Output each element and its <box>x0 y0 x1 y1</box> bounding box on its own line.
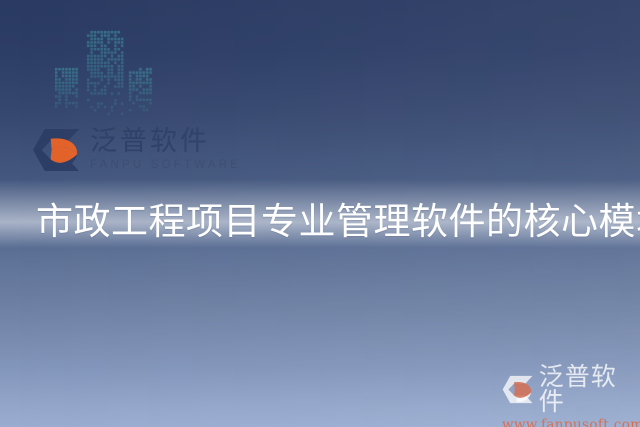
page-title: 市政工程项目专业管理软件的核心模块 <box>36 200 640 244</box>
watermark: 泛普软件 www.fanpusoft.com <box>502 364 636 427</box>
logo-name-cn: 泛普软件 <box>90 128 241 155</box>
logo-name-en: FANPU SOFTWARE <box>90 160 241 172</box>
watermark-url: www.fanpusoft.com <box>502 417 636 427</box>
watermark-logo-row: 泛普软件 <box>502 364 636 414</box>
pixel-city-skyline-icon <box>55 30 155 120</box>
fanpu-logo-text: 泛普软件 FANPU SOFTWARE <box>90 128 241 172</box>
fanpu-hexagon-arc-icon <box>502 374 534 405</box>
watermark-name-cn: 泛普软件 <box>539 364 636 414</box>
banner-image: 泛普软件 FANPU SOFTWARE 市政工程项目专业管理软件的核心模块 泛普… <box>0 0 640 427</box>
fanpu-logo: 泛普软件 FANPU SOFTWARE <box>32 127 241 173</box>
fanpu-hexagon-arc-icon <box>32 127 81 173</box>
